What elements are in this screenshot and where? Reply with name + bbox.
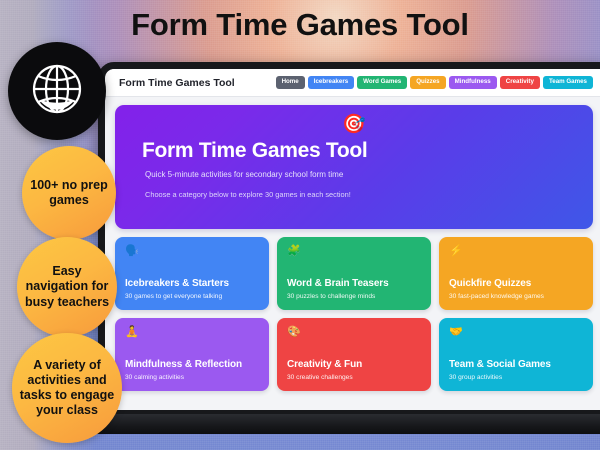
site-nav[interactable]: Home Icebreakers Word Games Quizzes Mind… xyxy=(276,76,593,89)
handshake-icon: 🤝 xyxy=(449,327,584,338)
globe-badge xyxy=(8,42,106,140)
page-title: Form Time Games Tool xyxy=(0,7,600,43)
card-title: Word & Brain Teasers xyxy=(287,278,422,289)
puzzle-icon: 🧩 xyxy=(287,246,422,257)
card-title: Team & Social Games xyxy=(449,359,584,370)
category-card-team-social-games[interactable]: 🤝 Team & Social Games 30 group activitie… xyxy=(439,318,593,391)
nav-item-home[interactable]: Home xyxy=(276,76,305,89)
card-title: Icebreakers & Starters xyxy=(125,278,260,289)
feature-bubble-easy-navigation: Easy navigation for busy teachers xyxy=(17,237,117,337)
laptop-base xyxy=(86,414,600,434)
card-description: 30 puzzles to challenge minds xyxy=(287,293,422,300)
nav-item-creativity[interactable]: Creativity xyxy=(500,76,540,89)
feature-bubble-variety-of-activities: A variety of activities and tasks to eng… xyxy=(12,333,122,443)
site-header: Form Time Games Tool Home Icebreakers Wo… xyxy=(105,69,600,97)
card-title: Mindfulness & Reflection xyxy=(125,359,260,370)
category-card-quickfire-quizzes[interactable]: ⚡ Quickfire Quizzes 30 fast-paced knowle… xyxy=(439,237,593,310)
card-description: 30 calming activities xyxy=(125,374,260,381)
card-description: 30 group activities xyxy=(449,374,584,381)
nav-item-word-games[interactable]: Word Games xyxy=(357,76,407,89)
feature-bubble-no-prep-games: 100+ no prep games xyxy=(22,146,116,240)
laptop-screen-bezel: Form Time Games Tool Home Icebreakers Wo… xyxy=(98,62,600,417)
nav-item-mindfulness[interactable]: Mindfulness xyxy=(449,76,497,89)
hero-banner: 🎯 Form Time Games Tool Quick 5-minute ac… xyxy=(115,105,593,229)
card-description: 30 games to get everyone talking xyxy=(125,293,260,300)
card-title: Creativity & Fun xyxy=(287,359,422,370)
category-card-creativity-fun[interactable]: 🎨 Creativity & Fun 30 creative challenge… xyxy=(277,318,431,391)
category-card-word-brain-teasers[interactable]: 🧩 Word & Brain Teasers 30 puzzles to cha… xyxy=(277,237,431,310)
nav-item-icebreakers[interactable]: Icebreakers xyxy=(308,76,354,89)
site-brand: Form Time Games Tool xyxy=(119,77,235,89)
card-description: 30 creative challenges xyxy=(287,374,422,381)
hero-subtitle: Quick 5-minute activities for secondary … xyxy=(115,170,593,179)
card-title: Quickfire Quizzes xyxy=(449,278,584,289)
target-icon: 🎯 xyxy=(115,115,593,134)
nav-item-quizzes[interactable]: Quizzes xyxy=(410,76,445,89)
category-card-icebreakers[interactable]: 🗣️ Icebreakers & Starters 30 games to ge… xyxy=(115,237,269,310)
hero-hint-text: Choose a category below to explore 30 ga… xyxy=(115,190,593,199)
nav-item-team-games[interactable]: Team Games xyxy=(543,76,593,89)
laptop-mockup: Form Time Games Tool Home Icebreakers Wo… xyxy=(98,62,600,434)
globe-icon xyxy=(25,59,89,123)
meditation-icon: 🧘 xyxy=(125,327,260,338)
category-card-mindfulness-reflection[interactable]: 🧘 Mindfulness & Reflection 30 calming ac… xyxy=(115,318,269,391)
browser-screen: Form Time Games Tool Home Icebreakers Wo… xyxy=(105,69,600,410)
lightning-icon: ⚡ xyxy=(449,246,584,257)
site-body: 🎯 Form Time Games Tool Quick 5-minute ac… xyxy=(105,97,600,410)
category-card-grid: 🗣️ Icebreakers & Starters 30 games to ge… xyxy=(115,237,593,391)
card-description: 30 fast-paced knowledge games xyxy=(449,293,584,300)
speech-icon: 🗣️ xyxy=(125,246,260,257)
palette-icon: 🎨 xyxy=(287,327,422,338)
hero-title: Form Time Games Tool xyxy=(115,139,593,163)
